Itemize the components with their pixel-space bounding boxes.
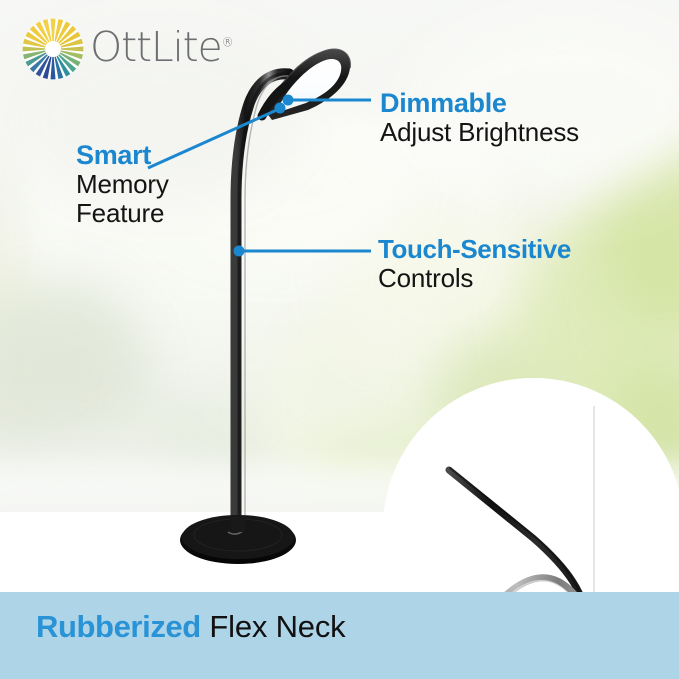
- callout-touch: Touch-Sensitive Controls: [378, 235, 571, 293]
- banner-detail: Flex Neck: [209, 609, 345, 644]
- product-feature-image: Dimmable Adjust Brightness Smart Memory …: [0, 0, 679, 679]
- bottom-banner: Rubberized Flex Neck: [0, 592, 679, 679]
- callout-line-dimmable: [283, 95, 372, 106]
- callout-smart: Smart Memory Feature: [76, 140, 169, 228]
- callout-smart-detail-line-2: Feature: [76, 199, 169, 228]
- callout-smart-highlight: Smart: [76, 140, 169, 170]
- callout-line-touch: [234, 246, 372, 257]
- banner-highlight: Rubberized: [36, 609, 201, 644]
- callout-dimmable-highlight: Dimmable: [380, 88, 579, 118]
- callout-smart-detail-line-1: Memory: [76, 170, 169, 199]
- callout-dimmable: Dimmable Adjust Brightness: [380, 88, 579, 147]
- brand-name: OttLite: [90, 23, 222, 71]
- registered-trademark-icon: ®: [222, 35, 234, 49]
- brand-logo: OttLite®: [22, 14, 242, 84]
- banner-text: Rubberized Flex Neck: [36, 609, 345, 645]
- callout-touch-detail: Controls: [378, 264, 571, 293]
- callout-dimmable-detail: Adjust Brightness: [380, 118, 579, 147]
- callout-touch-highlight: Touch-Sensitive: [378, 235, 571, 264]
- brand-wordmark: OttLite®: [90, 23, 234, 71]
- sunburst-icon: [22, 18, 84, 80]
